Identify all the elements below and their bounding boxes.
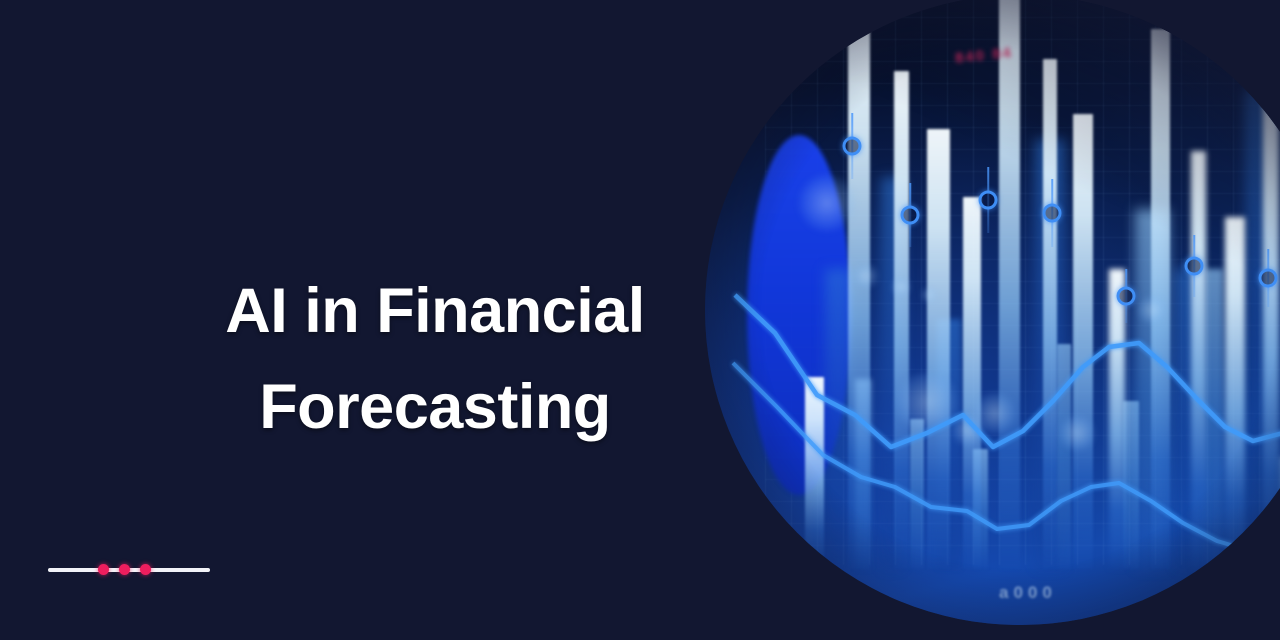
hero-circle-image: 840 84 a000 [705,0,1280,625]
page-title-line-2: Forecasting [120,360,750,456]
page-title-line-1: AI in Financial [120,264,750,360]
divider-dot [98,564,109,575]
trend-line-upper [735,295,1280,447]
trend-lines [705,0,1280,625]
banner-canvas: 840 84 a000 AI in Financial Forecasting [0,0,1280,640]
page-title: AI in Financial Forecasting [120,264,750,456]
decorative-divider [48,561,210,579]
divider-dot [140,564,151,575]
photo-label-axis: a000 [999,583,1057,603]
hero-chart-artwork: 840 84 a000 [705,0,1280,625]
divider-dot [119,564,130,575]
